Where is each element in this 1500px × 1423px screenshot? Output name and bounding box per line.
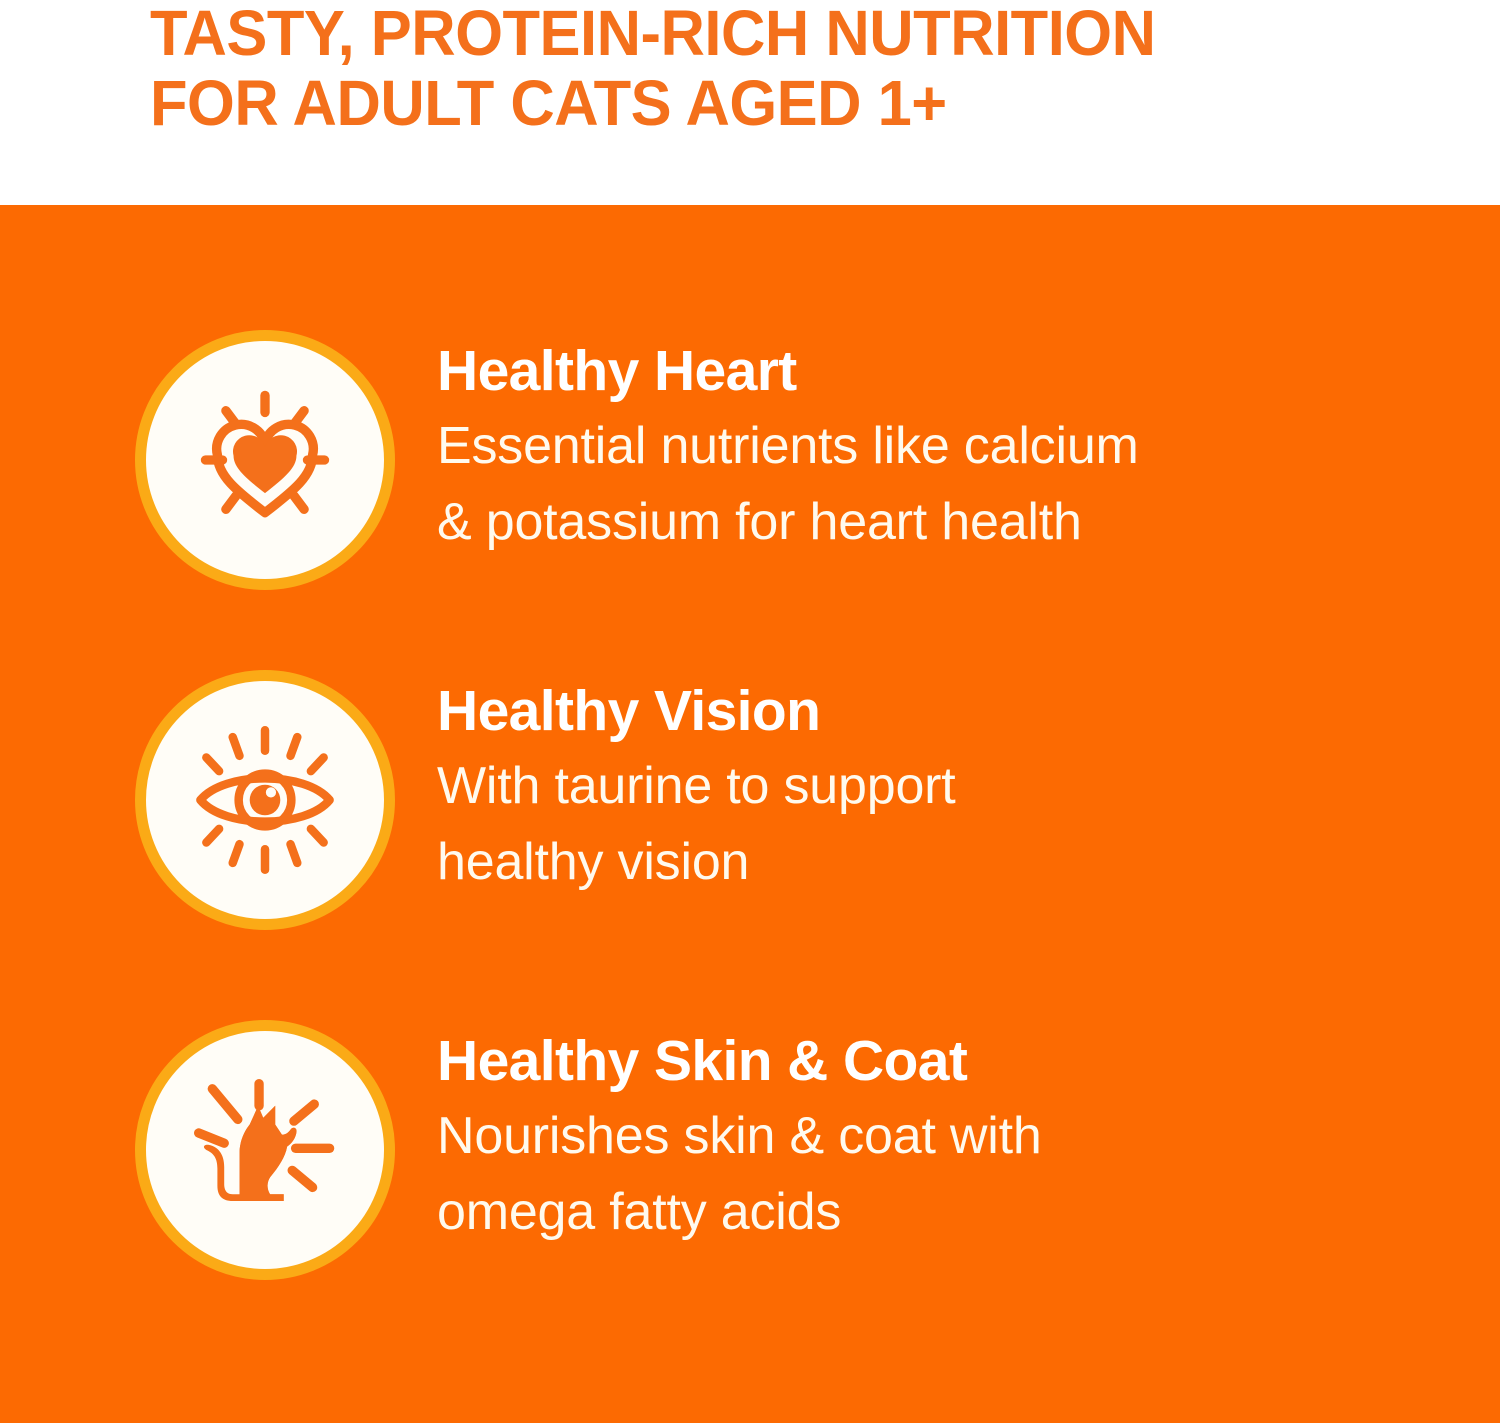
benefits-panel: Healthy Heart Essential nutrients like c… xyxy=(0,205,1500,1423)
radiant-heart-icon xyxy=(180,375,350,545)
benefit-icon-badge xyxy=(135,1020,395,1280)
benefits-list: Healthy Heart Essential nutrients like c… xyxy=(0,205,1500,1423)
page-title: TASTY, PROTEIN-RICH NUTRITION FOR ADULT … xyxy=(150,0,1398,138)
benefit-description: Essential nutrients like calcium & potas… xyxy=(437,408,1435,560)
benefit-item-healthy-vision: Healthy Vision With taurine to support h… xyxy=(135,670,1435,930)
radiant-eye-icon xyxy=(180,715,350,885)
benefit-text-column: Healthy Skin & Coat Nourishes skin & coa… xyxy=(395,1020,1435,1250)
benefit-text-column: Healthy Vision With taurine to support h… xyxy=(395,670,1435,900)
benefit-heading: Healthy Heart xyxy=(437,340,1435,402)
benefit-heading: Healthy Skin & Coat xyxy=(437,1030,1435,1092)
radiant-cat-icon xyxy=(180,1065,350,1235)
benefit-icon-badge xyxy=(135,670,395,930)
benefit-description: With taurine to support healthy vision xyxy=(437,748,1435,900)
benefit-item-healthy-heart: Healthy Heart Essential nutrients like c… xyxy=(135,330,1435,590)
benefit-heading: Healthy Vision xyxy=(437,680,1435,742)
benefit-item-healthy-skin-and-coat: Healthy Skin & Coat Nourishes skin & coa… xyxy=(135,1020,1435,1280)
benefit-icon-badge xyxy=(135,330,395,590)
product-benefits-banner: TASTY, PROTEIN-RICH NUTRITION FOR ADULT … xyxy=(0,0,1500,1423)
benefit-text-column: Healthy Heart Essential nutrients like c… xyxy=(395,330,1435,560)
benefit-description: Nourishes skin & coat with omega fatty a… xyxy=(437,1098,1435,1250)
